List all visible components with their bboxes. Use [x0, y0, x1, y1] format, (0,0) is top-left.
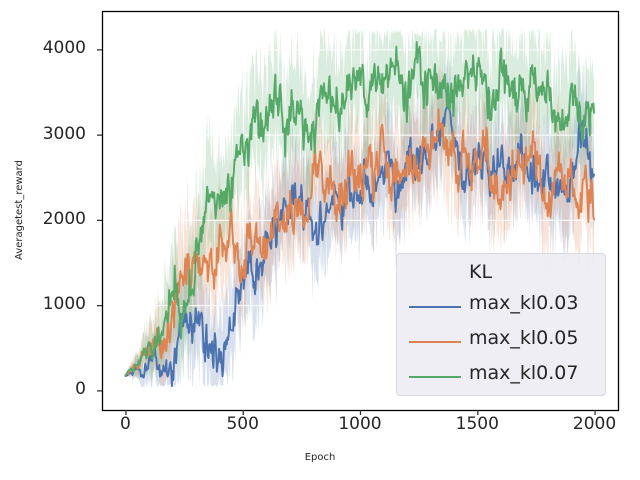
legend-title: KL	[469, 261, 492, 283]
legend-entry[interactable]: max_kl0.05	[397, 325, 607, 359]
y-tick-label: 2000	[6, 209, 86, 229]
x-tick-label: 500	[203, 414, 283, 434]
chart-legend[interactable]: KL max_kl0.03max_kl0.05max_kl0.07	[396, 253, 606, 396]
legend-color-swatch	[409, 306, 461, 308]
x-tick-label: 1500	[437, 414, 517, 434]
legend-entry[interactable]: max_kl0.03	[397, 290, 607, 324]
y-tick-label: 1000	[6, 294, 86, 314]
x-tick-label: 0	[85, 414, 165, 434]
chart-plot-canvas	[0, 0, 640, 480]
y-tick-label: 4000	[6, 38, 86, 58]
y-tick-label: 0	[6, 379, 86, 399]
legend-color-swatch	[409, 341, 461, 343]
chart-figure: Averagetest_reward Epoch 050010001500200…	[0, 0, 640, 480]
legend-entry[interactable]: max_kl0.07	[397, 360, 607, 394]
legend-color-swatch	[409, 376, 461, 378]
y-tick-label: 3000	[6, 124, 86, 144]
x-tick-label: 1000	[320, 414, 400, 434]
legend-entry-label: max_kl0.05	[469, 327, 578, 349]
legend-entry-label: max_kl0.03	[469, 292, 578, 314]
legend-entry-label: max_kl0.07	[469, 362, 578, 384]
x-tick-label: 2000	[555, 414, 635, 434]
x-axis-label: Epoch	[0, 452, 640, 463]
